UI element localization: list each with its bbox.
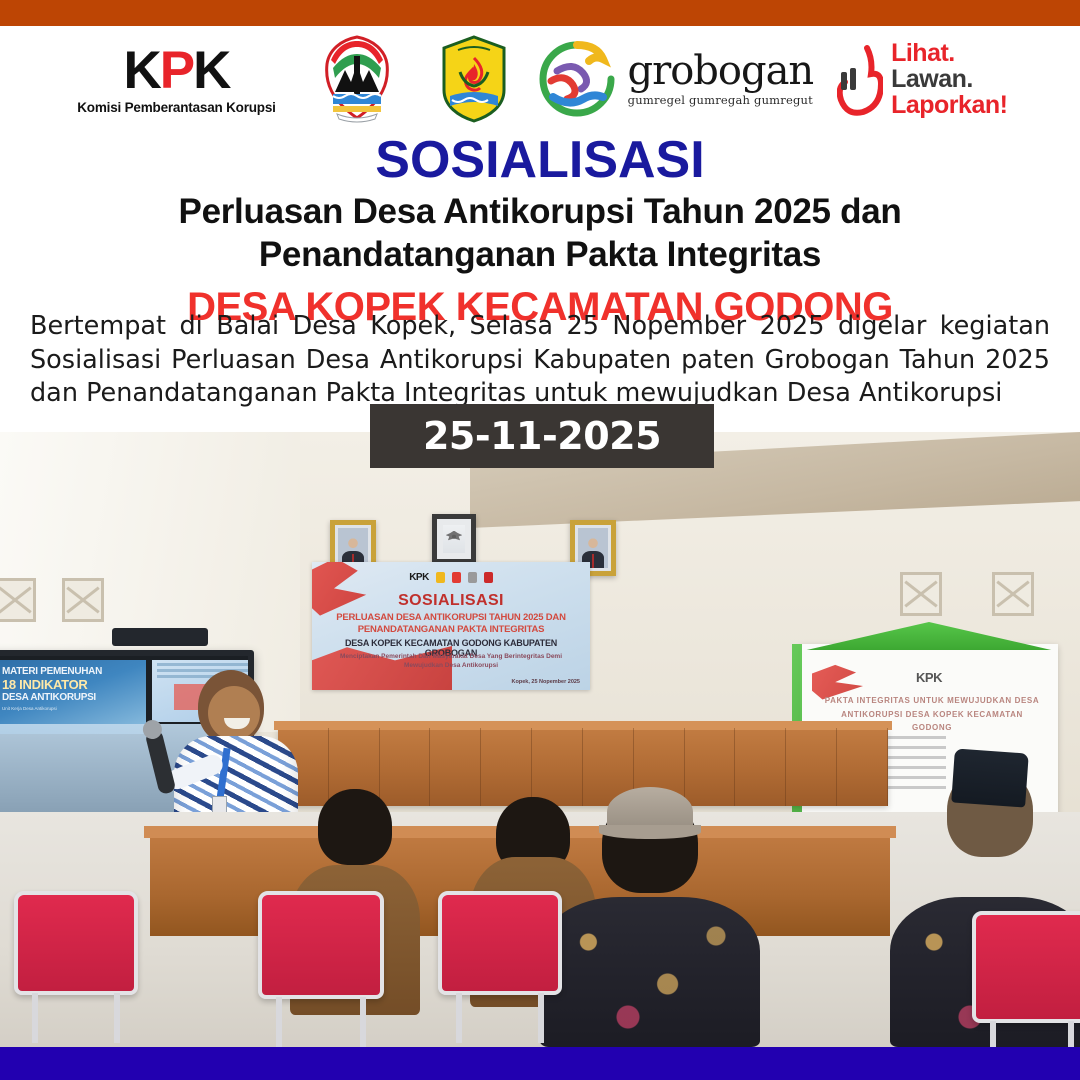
banner-motto: Menciptakan Pemerintah Dan Masyarakat De… <box>326 652 576 670</box>
grobogan-regency-emblem-icon <box>438 34 510 124</box>
banner-logo-dot <box>468 572 477 583</box>
heading-block: SOSIALISASI Perluasan Desa Antikorupsi T… <box>0 132 1080 329</box>
subtitle-line-1: Perluasan Desa Antikorupsi Tahun 2025 da… <box>0 192 1080 231</box>
body-paragraph: Bertempat di Balai Desa Kopek, Selasa 25… <box>30 310 1050 411</box>
kpk-letter-p: P <box>160 41 193 100</box>
logo-strip: KPK Komisi Pemberantasan Korupsi <box>0 28 1080 130</box>
slide-line-4: Unit Kerja Desa Antikorupsi <box>2 706 140 711</box>
chair <box>258 891 384 999</box>
slide-line-1: MATERI PEMENUHAN <box>2 666 140 678</box>
chair <box>972 911 1080 1023</box>
grobogan-tagline: gumregel gumregah gumregut <box>627 95 813 107</box>
banner-subtitle: PERLUASAN DESA ANTIKORUPSI TAHUN 2025 DA… <box>320 612 582 636</box>
camera-on-tv <box>112 628 208 646</box>
wall-vent <box>0 578 36 622</box>
grobogan-wordmark-text: grobogan <box>627 51 813 91</box>
banner-logo-dot <box>436 572 445 583</box>
date-badge-text: 25-11-2025 <box>423 414 661 458</box>
bottom-accent-bar <box>0 1047 1080 1080</box>
banner-signature-date: Kopek, 25 Nopember 2025 <box>512 679 580 685</box>
laporkan-text: Laporkan! <box>891 92 1007 118</box>
slide-line-3: DESA ANTIKORUPSI <box>2 692 140 704</box>
date-badge: 25-11-2025 <box>370 404 714 468</box>
banner-logo-dot <box>484 572 493 583</box>
page-title: SOSIALISASI <box>0 132 1080 188</box>
lihat-text: Lihat. <box>891 40 1007 66</box>
event-banner: KPK SOSIALISASI PERLUASAN DESA ANTIKORUP… <box>312 562 590 690</box>
peci-cap <box>951 748 1029 807</box>
lihat-lawan-laporkan-logo: Lihat. Lawan. Laporkan! <box>819 40 1026 119</box>
wall-vent <box>62 578 104 622</box>
banner-logo-dot <box>452 572 461 583</box>
grobogan-wordmark: grobogan gumregel gumregah gumregut <box>532 39 818 119</box>
audience-member <box>540 797 760 1047</box>
reporting-hand-icon <box>837 42 883 116</box>
board-kpk-label: KPK <box>800 670 1058 685</box>
subtitle-line-2: Penandatanganan Pakta Integritas <box>0 235 1080 274</box>
kpk-letter-k1: K <box>124 41 160 100</box>
chair <box>14 891 138 995</box>
grobogan-swirl-icon <box>537 39 617 119</box>
central-java-emblem <box>299 34 416 124</box>
lawan-text: Lawan. <box>891 66 1007 92</box>
kpk-letter-k2: K <box>193 41 229 100</box>
garuda-emblem-frame <box>432 514 476 564</box>
banner-kpk-label: KPK <box>409 572 429 583</box>
wall-vent <box>992 572 1034 616</box>
poster-canvas: KPK Komisi Pemberantasan Korupsi <box>0 0 1080 1080</box>
kpk-logo: KPK Komisi Pemberantasan Korupsi <box>54 44 299 115</box>
kpk-subtitle: Komisi Pemberantasan Korupsi <box>77 101 275 115</box>
event-photograph: KPK SOSIALISASI PERLUASAN DESA ANTIKORUP… <box>0 432 1080 1047</box>
presentation-slide: MATERI PEMENUHAN 18 INDIKATOR DESA ANTIK… <box>0 660 146 734</box>
top-accent-bar <box>0 0 1080 26</box>
central-java-emblem-icon <box>321 34 393 124</box>
baseball-cap <box>607 787 693 837</box>
grobogan-regency-emblem <box>416 34 533 124</box>
banner-title: SOSIALISASI <box>312 592 590 610</box>
chair <box>438 891 562 995</box>
banner-logo-row: KPK <box>312 572 590 583</box>
wall-vent <box>900 572 942 616</box>
slide-line-2: 18 INDIKATOR <box>2 678 140 692</box>
